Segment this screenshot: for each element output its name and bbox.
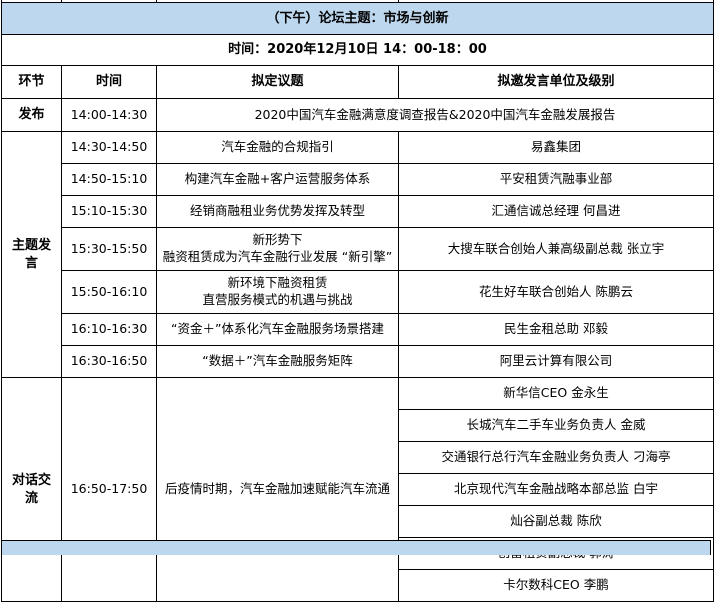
agenda-sheet: （下午）论坛主题：市场与创新 时间：2020年12月10日 14：00-18：0… [0,0,715,555]
keynote-time: 15:30-15:50 [62,228,157,271]
release-time: 14:00-14:30 [62,99,157,132]
agenda-table: （下午）论坛主题：市场与创新 时间：2020年12月10日 14：00-18：0… [1,0,714,602]
keynote-topic: 新环境下融资租赁 直营服务模式的机遇与挑战 [157,271,399,314]
panel-topic: 后疫情时期，汽车金融加速赋能汽车流通 [157,378,399,602]
keynote-topic-line-2: 融资租赁成为汽车金融行业发展 “新引擎” [161,249,394,266]
keynote-topic: 汽车金融的合规指引 [157,132,399,164]
keynote-time: 16:30-16:50 [62,346,157,378]
table-row: 15:10-15:30 经销商融租业务优势发挥及转型 汇通信诚总经理 何昌进 [2,196,714,228]
keynote-topic: “数据＋”汽车金融服务矩阵 [157,346,399,378]
panelist: 灿谷副总裁 陈欣 [399,506,714,538]
keynote-organization: 民生金租总助 邓毅 [399,314,714,346]
segment-label-keynote: 主题发言 [2,132,62,378]
column-header-topic: 拟定议题 [157,66,399,99]
panelist: 北京现代汽车金融战略本部总监 白宇 [399,474,714,506]
clipped-next-section-band [1,540,711,555]
segment-label-release: 发布 [2,99,62,132]
table-row: 15:30-15:50 新形势下 融资租赁成为汽车金融行业发展 “新引擎” 大搜… [2,228,714,271]
keynote-organization: 易鑫集团 [399,132,714,164]
keynote-organization: 汇通信诚总经理 何昌进 [399,196,714,228]
column-header-segment: 环节 [2,66,62,99]
table-row: 14:50-15:10 构建汽车金融+客户运营服务体系 平安租赁汽融事业部 [2,164,714,196]
keynote-organization: 平安租赁汽融事业部 [399,164,714,196]
datetime-row: 时间：2020年12月10日 14：00-18：00 [2,35,714,66]
keynote-topic-line-2: 直营服务模式的机遇与挑战 [161,292,394,309]
panel-time: 16:50-17:50 [62,378,157,602]
keynote-organization: 阿里云计算有限公司 [399,346,714,378]
table-row: 发布 14:00-14:30 2020中国汽车金融满意度调查报告&2020中国汽… [2,99,714,132]
keynote-time: 14:50-15:10 [62,164,157,196]
release-topic: 2020中国汽车金融满意度调查报告&2020中国汽车金融发展报告 [157,99,714,132]
column-header-organization: 拟邀发言单位及级别 [399,66,714,99]
keynote-topic-line-1: 新环境下融资租赁 [161,275,394,292]
keynote-time: 16:10-16:30 [62,314,157,346]
keynote-time: 15:50-16:10 [62,271,157,314]
table-row: 主题发言 14:30-14:50 汽车金融的合规指引 易鑫集团 [2,132,714,164]
banner-row: （下午）论坛主题：市场与创新 [2,3,714,35]
table-row: 16:30-16:50 “数据＋”汽车金融服务矩阵 阿里云计算有限公司 [2,346,714,378]
table-row: 16:10-16:30 “资金＋”体系化汽车金融服务场景搭建 民生金租总助 邓毅 [2,314,714,346]
keynote-organization: 大搜车联合创始人兼高级副总裁 张立宇 [399,228,714,271]
keynote-topic-line-1: 新形势下 [161,232,394,249]
panelist: 卡尔数科CEO 李鹏 [399,570,714,602]
forum-title: （下午）论坛主题：市场与创新 [2,3,714,35]
column-header-time: 时间 [62,66,157,99]
panelist: 新华信CEO 金永生 [399,378,714,410]
keynote-topic: “资金＋”体系化汽车金融服务场景搭建 [157,314,399,346]
panelist: 交通银行总行汽车金融业务负责人 刁海亭 [399,442,714,474]
table-row: 15:50-16:10 新环境下融资租赁 直营服务模式的机遇与挑战 花生好车联合… [2,271,714,314]
segment-label-panel: 对话交流 [2,378,62,602]
column-header-row: 环节 时间 拟定议题 拟邀发言单位及级别 [2,66,714,99]
keynote-topic: 经销商融租业务优势发挥及转型 [157,196,399,228]
forum-datetime: 时间：2020年12月10日 14：00-18：00 [2,35,714,66]
keynote-organization: 花生好车联合创始人 陈鹏云 [399,271,714,314]
table-row: 对话交流 16:50-17:50 后疫情时期，汽车金融加速赋能汽车流通 新华信C… [2,378,714,410]
keynote-topic: 新形势下 融资租赁成为汽车金融行业发展 “新引擎” [157,228,399,271]
keynote-time: 15:10-15:30 [62,196,157,228]
panelist: 长城汽车二手车业务负责人 金威 [399,410,714,442]
keynote-time: 14:30-14:50 [62,132,157,164]
keynote-topic: 构建汽车金融+客户运营服务体系 [157,164,399,196]
